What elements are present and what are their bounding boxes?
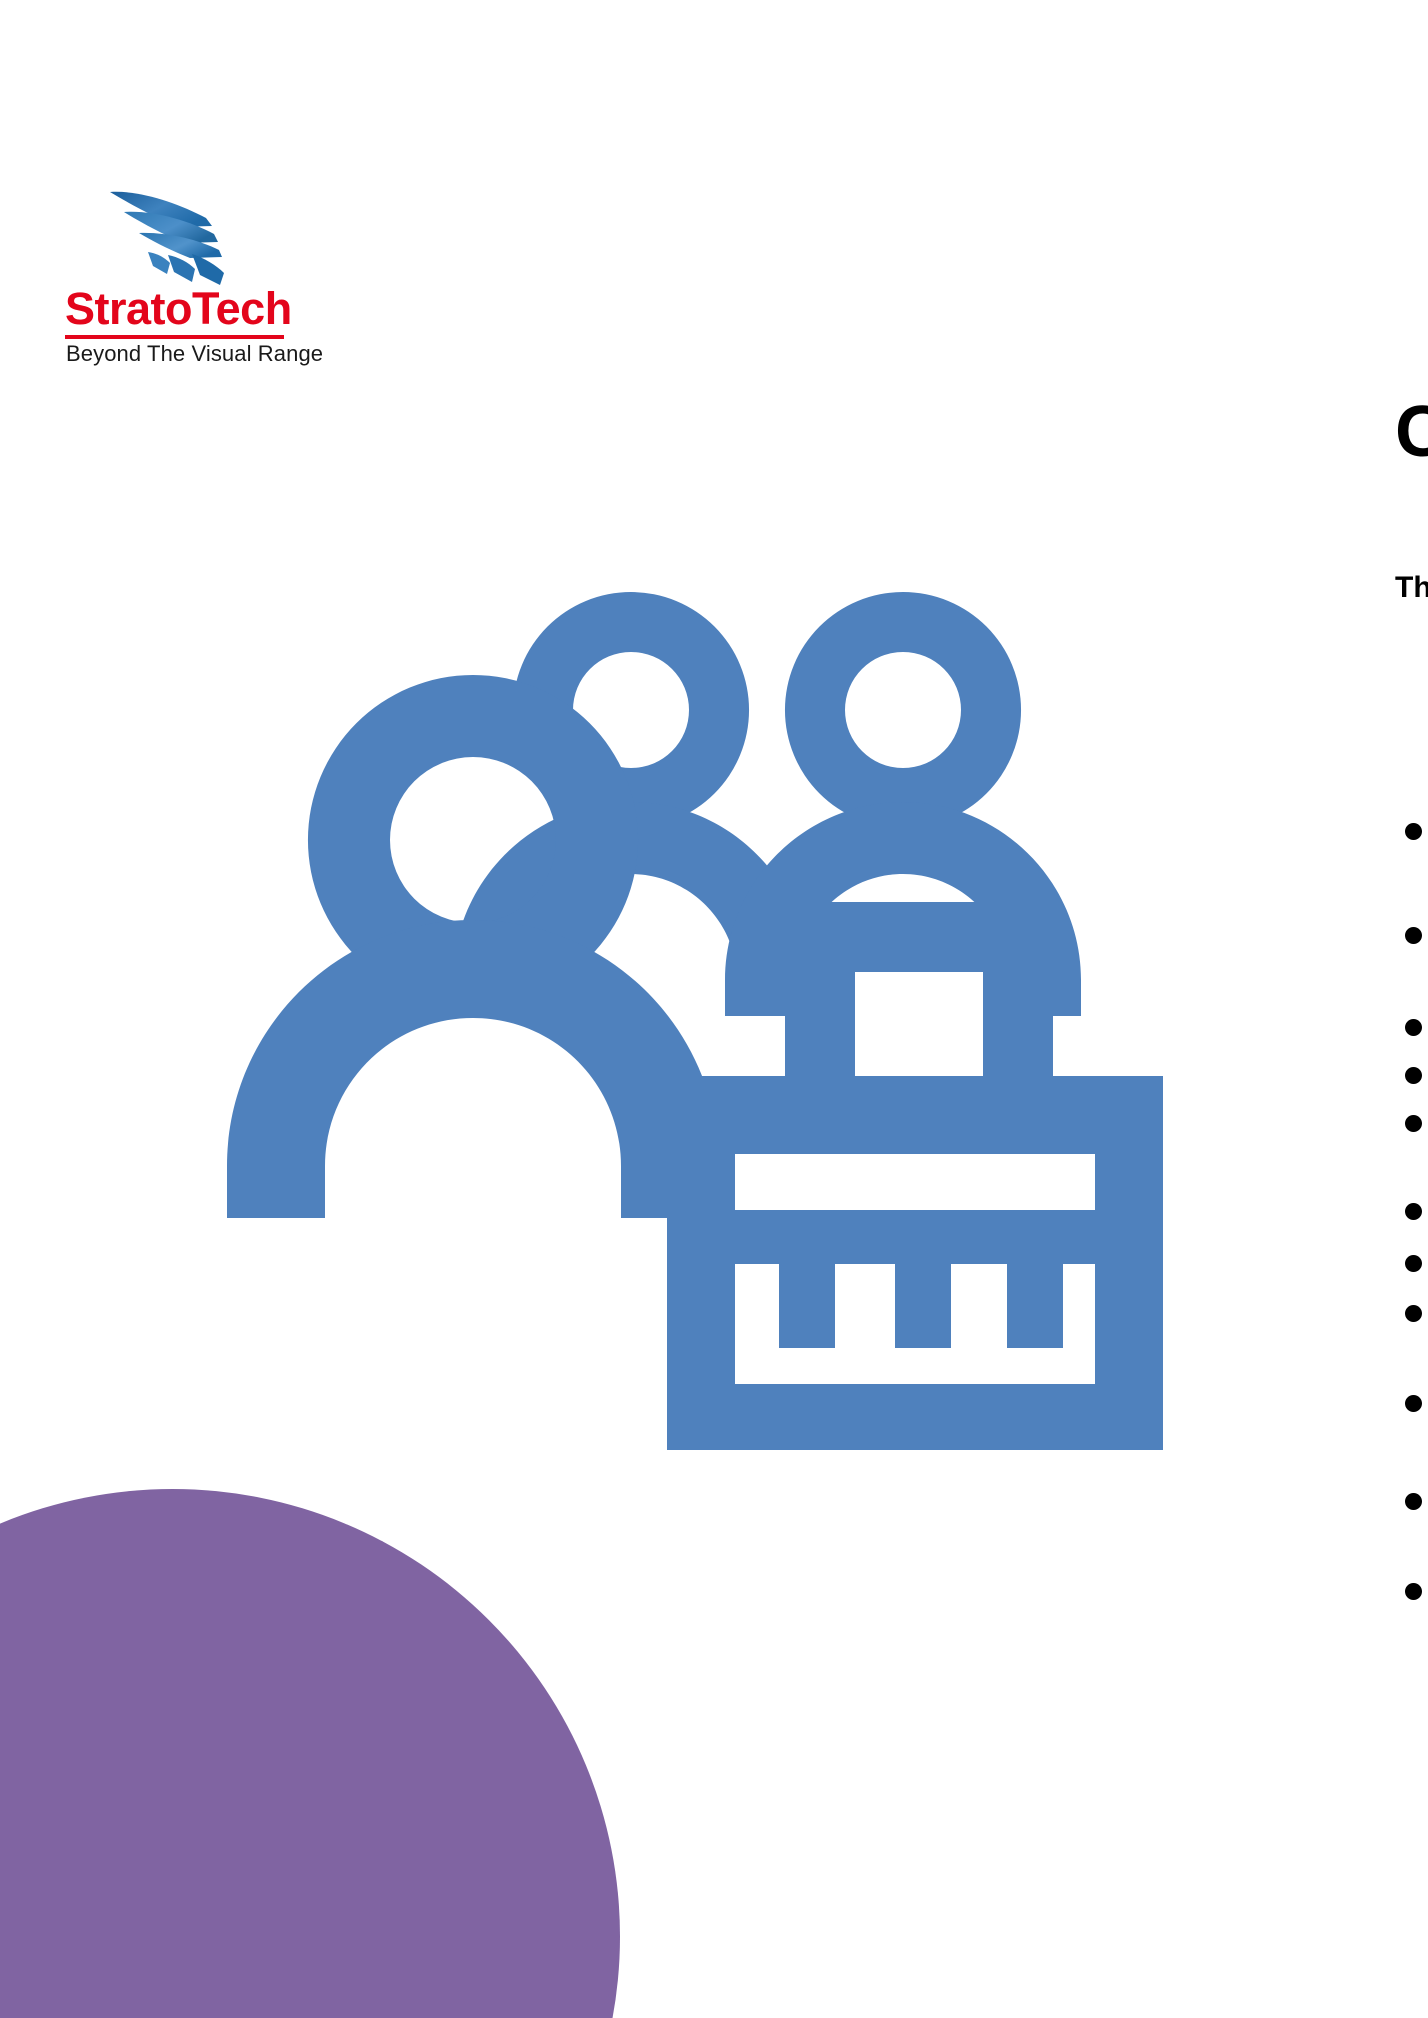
bullet-dot-icon	[1405, 1067, 1422, 1084]
list-item	[1405, 1386, 1428, 1420]
bullet-dot-icon	[1405, 1305, 1422, 1322]
bullet-dot-icon	[1405, 927, 1422, 944]
list-item	[1405, 918, 1428, 952]
lead-paragraph: The	[1395, 570, 1428, 606]
document-page: StratoTech Beyond The Visual Range	[0, 0, 1428, 2018]
list-item	[1405, 1058, 1428, 1092]
logo-underline-rule	[65, 335, 284, 339]
purple-decorative-circle	[0, 1489, 620, 2018]
list-item	[1405, 1106, 1428, 1140]
page-title: C	[1395, 390, 1428, 474]
people-briefcase-icon	[195, 440, 1205, 1450]
bullet-dot-icon	[1405, 1203, 1422, 1220]
company-logo: StratoTech Beyond The Visual Range	[60, 176, 360, 386]
list-item	[1405, 1246, 1428, 1280]
bullet-dot-icon	[1405, 1019, 1422, 1036]
bullet-dot-icon	[1405, 1583, 1422, 1600]
list-item	[1405, 1194, 1428, 1228]
list-item	[1405, 1296, 1428, 1330]
right-text-column: C The	[1395, 390, 1428, 606]
bullet-dot-icon	[1405, 1255, 1422, 1272]
bullet-dot-icon	[1405, 1395, 1422, 1412]
bullet-dot-icon	[1405, 1115, 1422, 1132]
list-item	[1405, 1574, 1428, 1608]
list-item	[1405, 814, 1428, 848]
list-item	[1405, 1484, 1428, 1518]
logo-wordmark: StratoTech Beyond The Visual Range	[60, 284, 360, 367]
logo-tagline: Beyond The Visual Range	[60, 341, 360, 367]
bullet-dot-icon	[1405, 1493, 1422, 1510]
list-item	[1405, 1010, 1428, 1044]
bullet-dot-icon	[1405, 823, 1422, 840]
logo-name: StratoTech	[60, 284, 360, 334]
wing-icon	[108, 176, 238, 286]
